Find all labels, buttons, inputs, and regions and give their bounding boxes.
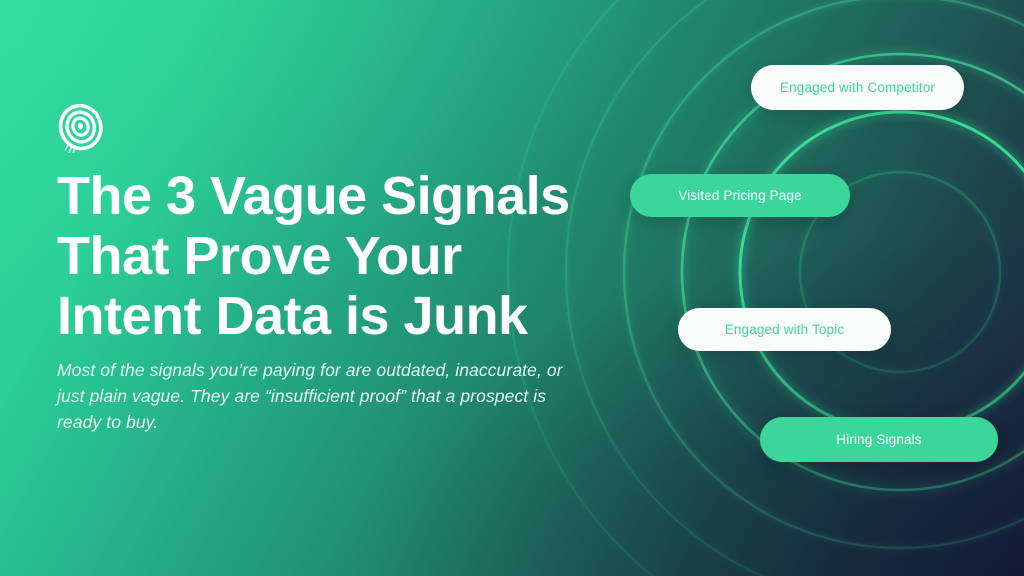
signal-pill-label: Engaged with Competitor [780,80,935,95]
spiral-target-logo-icon [56,103,106,153]
page-title: The 3 Vague Signals That Prove Your Inte… [57,166,637,346]
signal-pill-visited-pricing-page[interactable]: Visited Pricing Page [630,174,850,217]
signal-pill-engaged-with-topic[interactable]: Engaged with Topic [678,308,891,351]
slide-canvas: The 3 Vague Signals That Prove Your Inte… [0,0,1024,576]
headline-line-1: The 3 Vague Signals [57,166,637,226]
signal-pill-label: Hiring Signals [836,432,921,447]
headline-line-2: That Prove Your [57,226,637,286]
signal-pill-engaged-with-competitor[interactable]: Engaged with Competitor [751,65,964,110]
page-subtitle: Most of the signals you’re paying for ar… [57,357,567,435]
signal-pill-hiring-signals[interactable]: Hiring Signals [760,417,998,462]
signal-pill-label: Visited Pricing Page [678,188,802,203]
headline-line-3: Intent Data is Junk [57,286,637,346]
signal-pill-label: Engaged with Topic [725,322,845,337]
